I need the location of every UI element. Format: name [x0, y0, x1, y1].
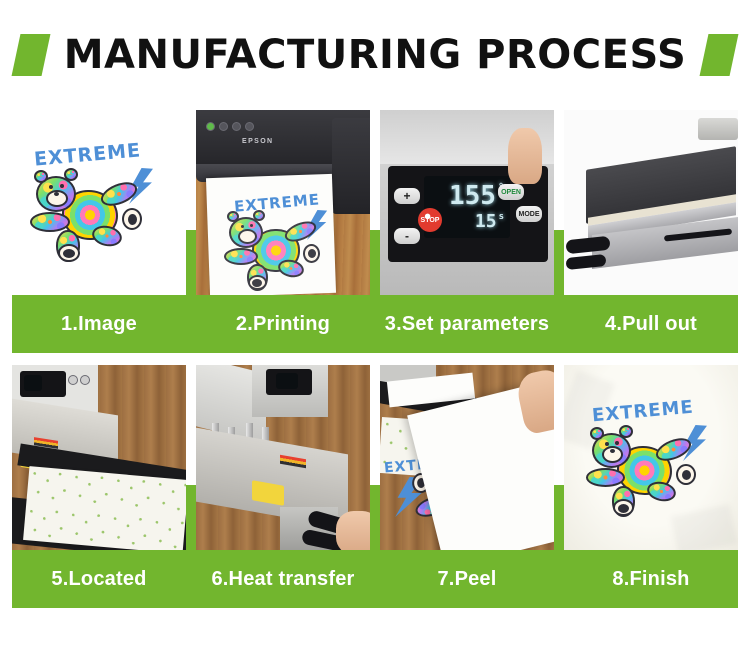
step-label-bar: 5.Located [12, 550, 186, 608]
step-image-artwork: EXTREME [12, 110, 186, 295]
process-step-card[interactable]: 6.Heat transfer [196, 365, 370, 608]
step-image-pull-out [564, 110, 738, 295]
step-label: 7.Peel [437, 568, 496, 591]
step-image-heat-transfer [196, 365, 370, 550]
process-step-card[interactable]: 155 ° 15 s + - STOP OPEN MODE 3.Set para… [380, 110, 554, 353]
title-right-slash-icon [700, 34, 739, 76]
bear-artwork [224, 210, 324, 292]
plus-key[interactable]: + [394, 188, 420, 204]
step-image-peel: EXTREME [380, 365, 554, 550]
step-label: 1.Image [61, 313, 137, 336]
process-step-card[interactable]: EPSON EXTREME [196, 110, 370, 353]
open-key[interactable]: OPEN [498, 184, 524, 200]
step-image-located [12, 365, 186, 550]
mode-key[interactable]: MODE [516, 206, 542, 222]
hand [336, 511, 370, 550]
stop-key[interactable]: STOP [418, 208, 442, 232]
step-label: 4.Pull out [605, 313, 697, 336]
process-step-card[interactable]: 5.Located [12, 365, 186, 608]
lcd-time-value: 15 [475, 213, 497, 231]
lcd-time-unit: s [499, 213, 504, 222]
step-image-printing: EPSON EXTREME [196, 110, 370, 295]
step-image-set-parameters: 155 ° 15 s + - STOP OPEN MODE [380, 110, 554, 295]
bear-artwork [586, 425, 700, 519]
step-image-finish: EXTREME [564, 365, 738, 550]
process-step-card[interactable]: EXTREME [12, 110, 186, 353]
step-label: 5.Located [51, 568, 146, 591]
step-label: 3.Set parameters [385, 313, 549, 336]
step-label-bar: 1.Image [12, 295, 186, 353]
step-label-bar: 6.Heat transfer [196, 550, 370, 608]
step-label-bar: 2.Printing [196, 295, 370, 353]
transfer-paper [23, 466, 186, 550]
step-label-bar: 3.Set parameters [380, 295, 554, 353]
finger [508, 128, 542, 184]
step-label: 8.Finish [612, 568, 689, 591]
step-label: 6.Heat transfer [211, 568, 354, 591]
step-label: 2.Printing [236, 313, 330, 336]
step-label-bar: 7.Peel [380, 550, 554, 608]
printer-brand-label: EPSON [242, 138, 274, 145]
process-step-card[interactable]: EXTREME [564, 365, 738, 608]
step-label-bar: 4.Pull out [564, 295, 738, 353]
step-label-bar: 8.Finish [564, 550, 738, 608]
title-left-slash-icon [11, 34, 50, 76]
bear-artwork [30, 168, 146, 264]
minus-key[interactable]: - [394, 228, 420, 244]
page-header: MANUFACTURING PROCESS [0, 0, 750, 110]
page-title: MANUFACTURING PROCESS [64, 32, 687, 78]
process-step-card[interactable]: 4.Pull out [564, 110, 738, 353]
process-step-card[interactable]: EXTREME [380, 365, 554, 608]
process-steps-grid: EXTREME [0, 110, 750, 608]
lcd-temperature-value: 155 [449, 183, 496, 209]
